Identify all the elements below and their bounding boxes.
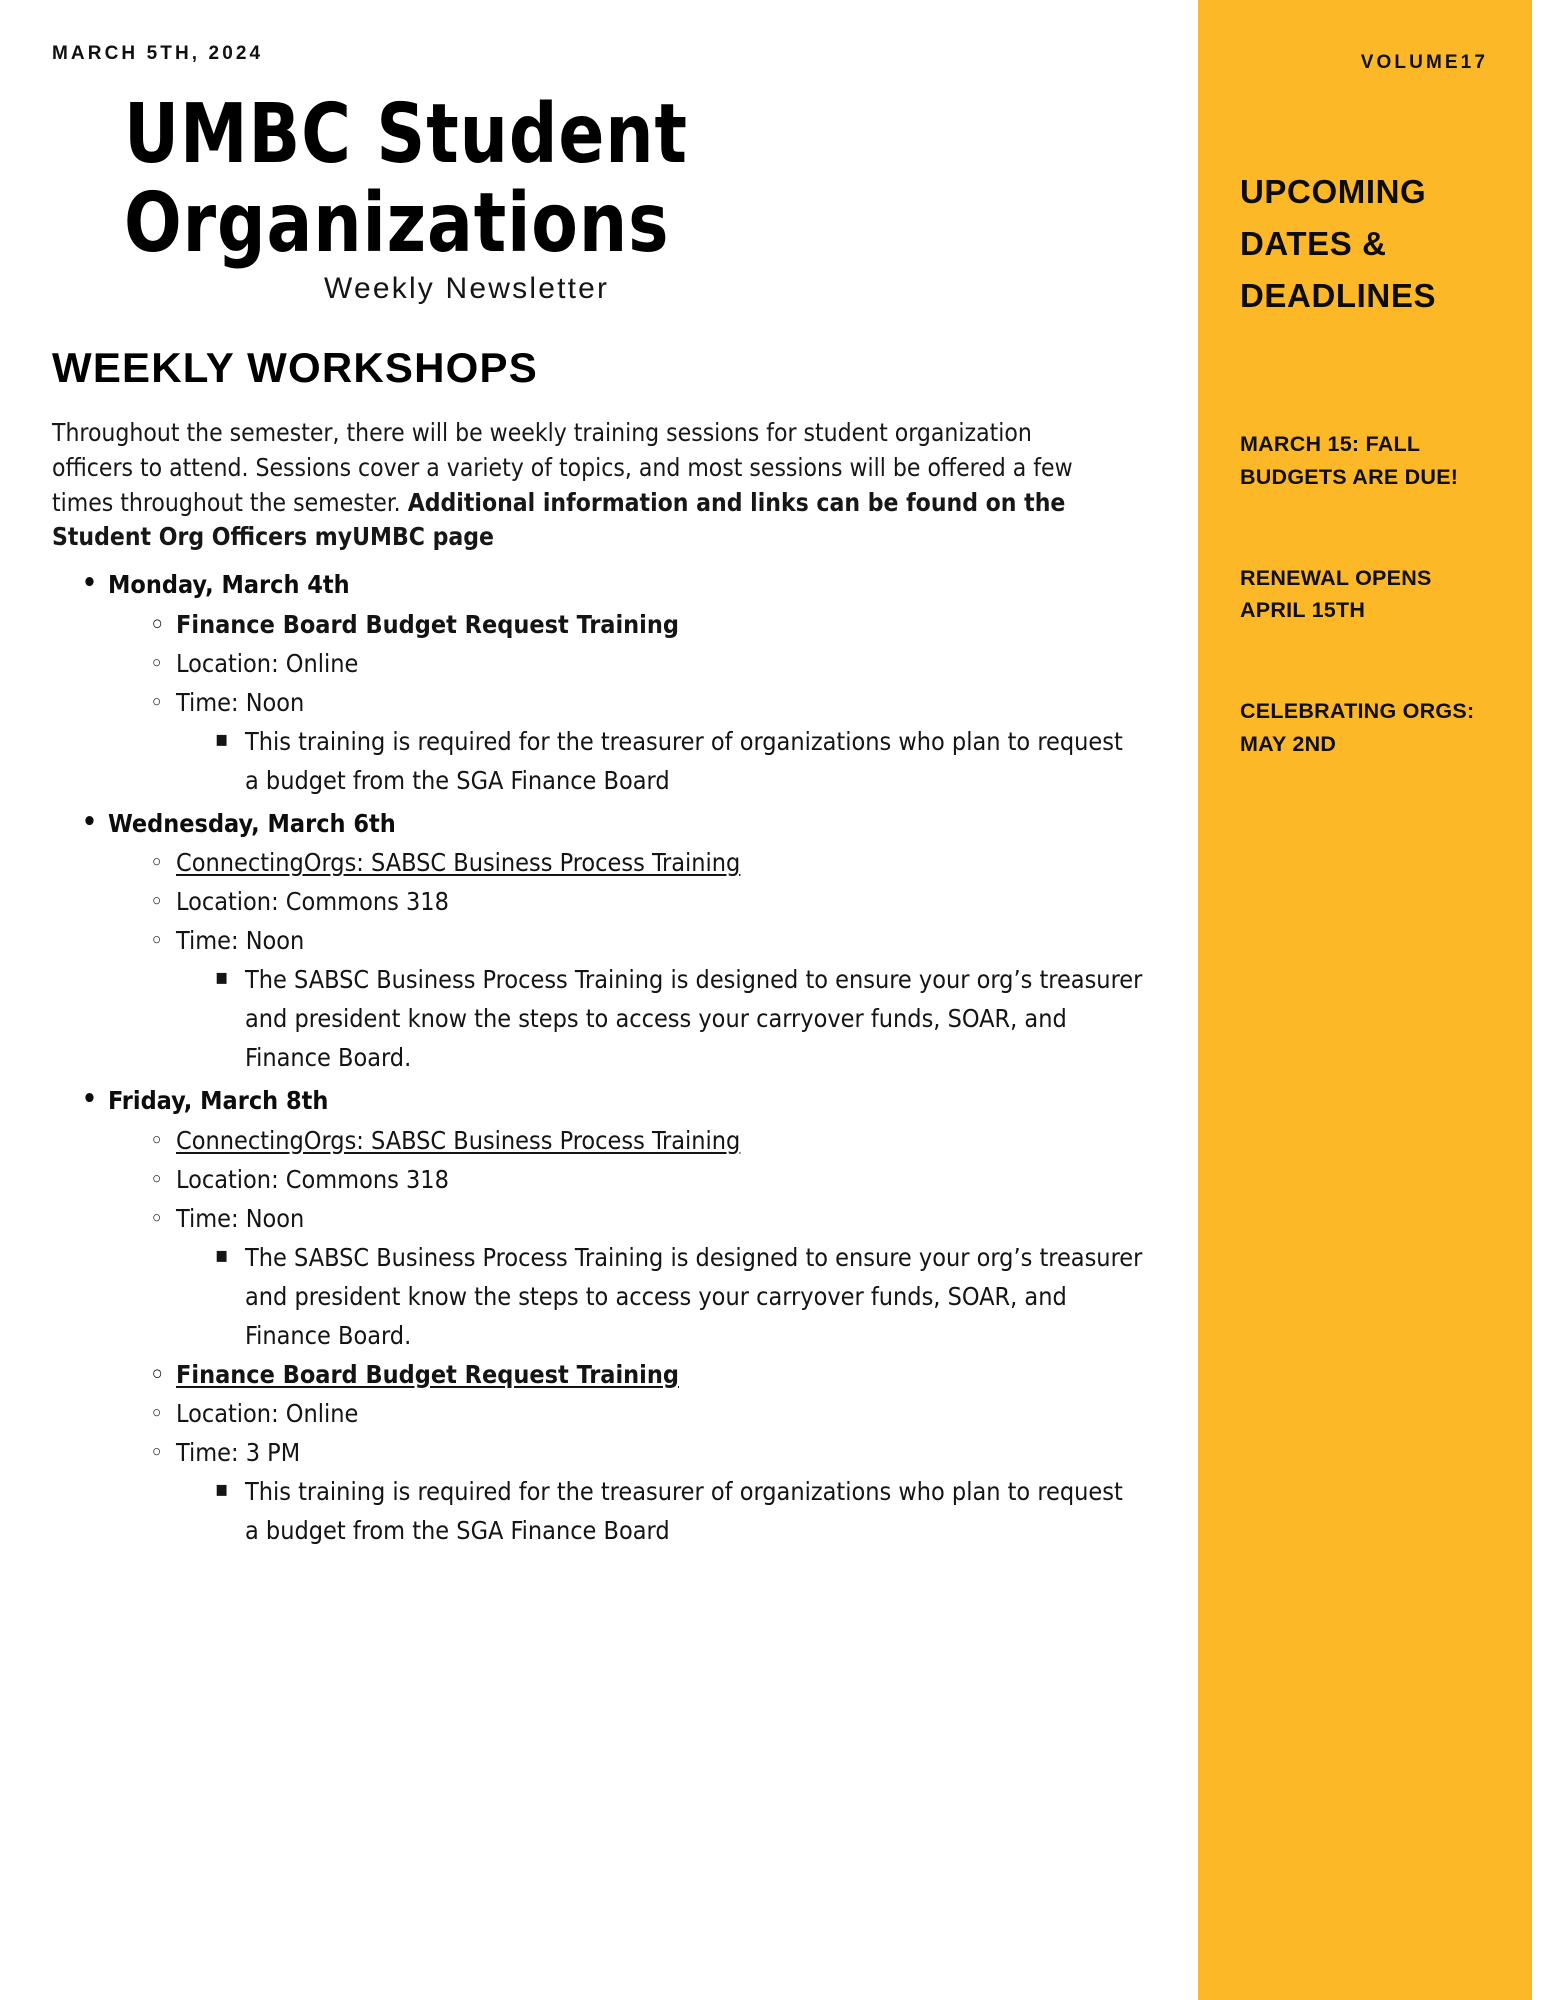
workshop-title: Finance Board Budget Request Training [52,605,1143,644]
schedule-day-title: Friday, March 8th [52,1081,1143,1121]
schedule-entry-list: ConnectingOrgs: SABSC Business Process T… [52,1121,1143,1550]
workshop-note: This training is required for the treasu… [52,722,1143,800]
intro-paragraph: Throughout the semester, there will be w… [52,416,1112,555]
masthead: UMBC Student Organizations Weekly Newsle… [52,91,1143,306]
workshop-time: Time: Noon [52,921,1143,960]
deadline-list: MARCH 15: FALL BUDGETS ARE DUE!RENEWAL O… [1240,428,1490,760]
sidebar-heading-line: DEADLINES [1240,270,1490,322]
workshop-note-list: The SABSC Business Process Training is d… [52,960,1143,1077]
workshop-location: Location: Commons 318 [52,1160,1143,1199]
page-title-line-2: Organizations [124,180,1061,269]
deadline-item: RENEWAL OPENS APRIL 15TH [1240,562,1490,627]
workshop-title[interactable]: ConnectingOrgs: SABSC Business Process T… [52,843,1143,882]
workshop-title[interactable]: ConnectingOrgs: SABSC Business Process T… [52,1121,1143,1160]
sidebar-heading-line: DATES & [1240,218,1490,270]
workshop-note: The SABSC Business Process Training is d… [52,1238,1143,1355]
workshop-time: Time: Noon [52,1199,1143,1238]
workshop-location-text: Location: Online [176,649,358,678]
workshop-title-text: ConnectingOrgs: SABSC Business Process T… [176,1126,740,1155]
schedule-day-block: Monday, March 4thFinance Board Budget Re… [52,565,1143,800]
schedule-day-block: Wednesday, March 6thConnectingOrgs: SABS… [52,804,1143,1078]
main-column: MARCH 5TH, 2024 UMBC Student Organizatio… [0,0,1198,2000]
workshop-time-text: Time: Noon [176,926,304,955]
workshop-location-text: Location: Online [176,1399,358,1428]
deadline-item: CELEBRATING ORGS: MAY 2ND [1240,695,1490,760]
workshop-time-text: Time: Noon [176,688,304,717]
page-title-line-1: UMBC Student [124,91,1061,180]
workshop-note-list: This training is required for the treasu… [52,1472,1143,1550]
workshop-location-text: Location: Commons 318 [176,1165,449,1194]
workshop-title-text: Finance Board Budget Request Training [176,1360,679,1389]
issue-date: MARCH 5TH, 2024 [52,43,1143,65]
workshop-note: This training is required for the treasu… [52,1472,1143,1550]
volume-label: VOLUME17 [1240,52,1490,74]
schedule-day-block: Friday, March 8thConnectingOrgs: SABSC B… [52,1081,1143,1550]
sidebar: VOLUME17 UPCOMINGDATES &DEADLINES MARCH … [1198,0,1532,2000]
workshop-schedule-list: Monday, March 4thFinance Board Budget Re… [52,565,1143,1550]
workshop-time-text: Time: Noon [176,1204,304,1233]
workshop-title-text: ConnectingOrgs: SABSC Business Process T… [176,848,740,877]
schedule-entry-list: Finance Board Budget Request TrainingLoc… [52,605,1143,800]
workshop-location: Location: Online [52,644,1143,683]
workshop-location: Location: Online [52,1394,1143,1433]
page-title: UMBC Student Organizations [124,91,1061,268]
workshop-time: Time: Noon [52,683,1143,722]
workshop-location-text: Location: Commons 318 [176,887,449,916]
sidebar-heading: UPCOMINGDATES &DEADLINES [1240,166,1490,322]
workshop-note-list: The SABSC Business Process Training is d… [52,1238,1143,1355]
schedule-day-title: Monday, March 4th [52,565,1143,605]
newsletter-page: MARCH 5TH, 2024 UMBC Student Organizatio… [0,0,1545,2000]
sidebar-heading-line: UPCOMING [1240,166,1490,218]
section-heading: WEEKLY WORKSHOPS [52,344,1143,392]
workshop-location: Location: Commons 318 [52,882,1143,921]
workshop-note-list: This training is required for the treasu… [52,722,1143,800]
page-subtitle: Weekly Newsletter [124,272,1143,306]
deadline-item: MARCH 15: FALL BUDGETS ARE DUE! [1240,428,1490,493]
workshop-title-text: Finance Board Budget Request Training [176,610,679,639]
schedule-entry-list: ConnectingOrgs: SABSC Business Process T… [52,843,1143,1077]
workshop-time: Time: 3 PM [52,1433,1143,1472]
workshop-time-text: Time: 3 PM [176,1438,300,1467]
workshop-note: The SABSC Business Process Training is d… [52,960,1143,1077]
workshop-title[interactable]: Finance Board Budget Request Training [52,1355,1143,1394]
schedule-day-title: Wednesday, March 6th [52,804,1143,844]
